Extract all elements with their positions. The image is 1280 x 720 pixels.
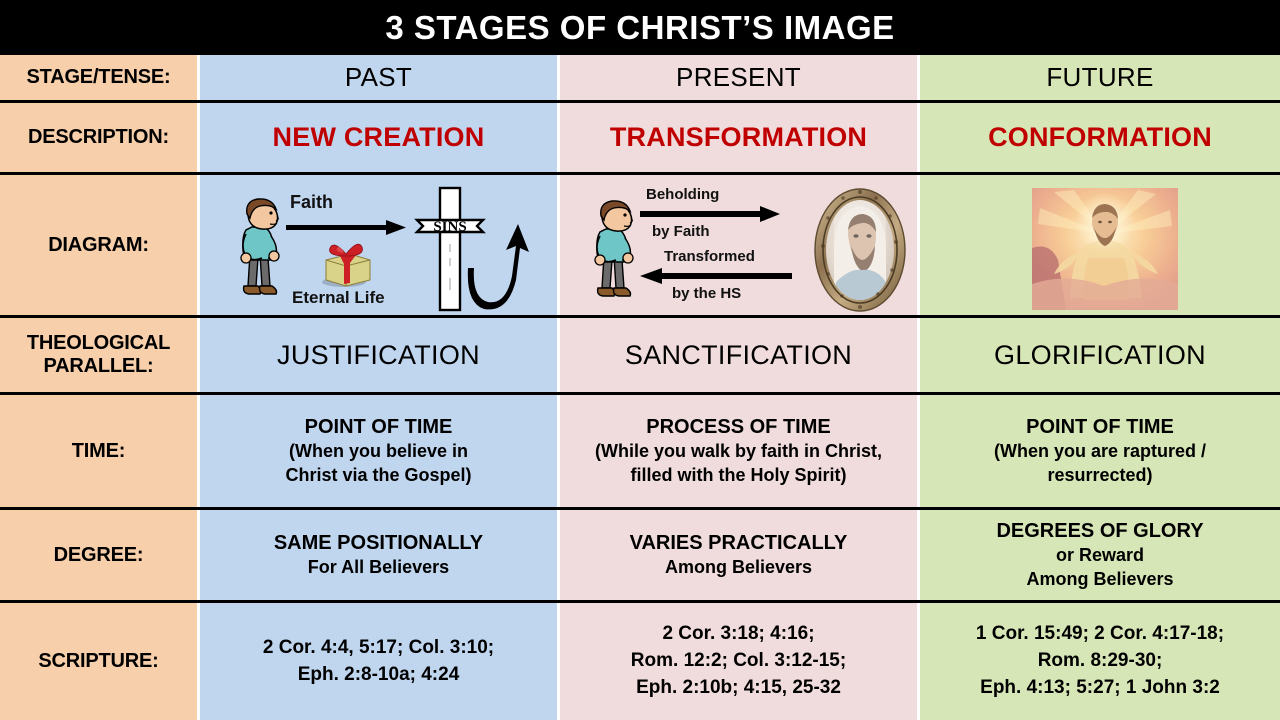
row-label-text: STAGE/TENSE: xyxy=(27,66,171,89)
page-title: 3 STAGES OF CHRIST’S IMAGE xyxy=(385,11,894,44)
row-label-text: DIAGRAM: xyxy=(48,234,149,257)
degree-past-main: SAME POSITIONALLY xyxy=(274,531,483,556)
cell-description-past: NEW CREATION xyxy=(200,103,560,172)
cell-time-future: POINT OF TIME (When you are raptured / r… xyxy=(920,395,1280,507)
diagram-conformation xyxy=(928,178,1272,312)
cell-parallel-future: GLORIFICATION xyxy=(920,318,1280,392)
table-row-description: DESCRIPTION: NEW CREATION TRANSFORMATION… xyxy=(0,103,1280,175)
gift-box-icon xyxy=(316,236,378,288)
christ-in-glory-icon xyxy=(1032,188,1178,310)
row-label-text: SCRIPTURE: xyxy=(38,650,158,673)
time-past-sub1: (When you believe in xyxy=(289,440,468,463)
cell-scripture-present: 2 Cor. 3:18; 4:16; Rom. 12:2; Col. 3:12-… xyxy=(560,603,920,720)
time-future-main: POINT OF TIME xyxy=(1026,415,1174,440)
parallel-future-text: GLORIFICATION xyxy=(994,340,1206,371)
row-label-description: DESCRIPTION: xyxy=(0,103,200,172)
table-row-time: TIME: POINT OF TIME (When you believe in… xyxy=(0,395,1280,510)
degree-present-main: VARIES PRACTICALLY xyxy=(630,531,848,556)
stage-past-text: PAST xyxy=(345,62,412,93)
row-label-time: TIME: xyxy=(0,395,200,507)
cell-stage-future: FUTURE xyxy=(920,55,1280,100)
transformed-label-line2: by the HS xyxy=(672,285,741,302)
cell-scripture-past: 2 Cor. 4:4, 5:17; Col. 3:10; Eph. 2:8-10… xyxy=(200,603,560,720)
description-past-text: NEW CREATION xyxy=(273,122,485,153)
row-label-degree: DEGREE: xyxy=(0,510,200,600)
oval-mirror-christ-icon xyxy=(810,186,910,314)
cartoon-man-icon xyxy=(584,198,640,302)
table-row-degree: DEGREE: SAME POSITIONALLY For All Believ… xyxy=(0,510,1280,603)
cell-stage-present: PRESENT xyxy=(560,55,920,100)
description-present-text: TRANSFORMATION xyxy=(610,122,867,153)
row-label-theological-parallel: THEOLOGICAL PARALLEL: xyxy=(0,318,200,392)
row-label-stage: STAGE/TENSE: xyxy=(0,55,200,100)
table-row-diagram: DIAGRAM: xyxy=(0,175,1280,318)
degree-past-sub1: For All Believers xyxy=(308,556,449,579)
stage-future-text: FUTURE xyxy=(1046,62,1153,93)
faith-arrow-icon xyxy=(286,219,408,237)
row-label-text: DEGREE: xyxy=(54,544,144,567)
row-label-diagram: DIAGRAM: xyxy=(0,175,200,315)
cell-description-future: CONFORMATION xyxy=(920,103,1280,172)
table-row-scripture: SCRIPTURE: 2 Cor. 4:4, 5:17; Col. 3:10; … xyxy=(0,603,1280,720)
stage-present-text: PRESENT xyxy=(676,62,801,93)
faith-arrow-label: Faith xyxy=(290,192,333,213)
diagram-transformation: Beholding by Faith Transformed by the HS xyxy=(568,178,909,312)
transformed-arrow-icon xyxy=(640,268,792,284)
table-row-stage: STAGE/TENSE: PAST PRESENT FUTURE xyxy=(0,55,1280,103)
scripture-past-line2: Eph. 2:8-10a; 4:24 xyxy=(298,662,460,689)
degree-future-sub2: Among Believers xyxy=(1026,568,1173,591)
time-future-sub2: resurrected) xyxy=(1047,464,1152,487)
beholding-label-line2: by Faith xyxy=(652,223,710,240)
cell-parallel-past: JUSTIFICATION xyxy=(200,318,560,392)
row-label-text: TIME: xyxy=(72,440,125,463)
diagram-new-creation: Faith xyxy=(208,178,549,312)
description-future-text: CONFORMATION xyxy=(988,122,1212,153)
scripture-future-line1: 1 Cor. 15:49; 2 Cor. 4:17-18; xyxy=(976,621,1224,648)
time-present-sub1: (While you walk by faith in Christ, xyxy=(595,440,882,463)
cell-scripture-future: 1 Cor. 15:49; 2 Cor. 4:17-18; Rom. 8:29-… xyxy=(920,603,1280,720)
time-future-sub1: (When you are raptured / xyxy=(994,440,1206,463)
degree-future-sub1: or Reward xyxy=(1056,544,1144,567)
beholding-arrow-icon xyxy=(640,206,782,222)
cell-diagram-past: Faith xyxy=(200,175,560,315)
comparison-table: STAGE/TENSE: PAST PRESENT FUTURE DESCRIP… xyxy=(0,55,1280,720)
row-label-text-line1: THEOLOGICAL xyxy=(27,332,170,355)
row-label-text: DESCRIPTION: xyxy=(28,126,169,149)
parallel-past-text: JUSTIFICATION xyxy=(277,340,480,371)
scripture-future-line2: Rom. 8:29-30; xyxy=(1038,648,1163,675)
beholding-label-line1: Beholding xyxy=(646,186,719,203)
transformed-label-line1: Transformed xyxy=(664,248,755,265)
cell-time-past: POINT OF TIME (When you believe in Chris… xyxy=(200,395,560,507)
title-bar: 3 STAGES OF CHRIST’S IMAGE xyxy=(0,0,1280,55)
scripture-present-line3: Eph. 2:10b; 4:15, 25-32 xyxy=(636,675,841,702)
upward-arrow-icon xyxy=(466,210,532,310)
slide-root: 3 STAGES OF CHRIST’S IMAGE STAGE/TENSE: … xyxy=(0,0,1280,720)
time-past-main: POINT OF TIME xyxy=(305,415,453,440)
scripture-present-line1: 2 Cor. 3:18; 4:16; xyxy=(662,621,814,648)
scripture-present-line2: Rom. 12:2; Col. 3:12-15; xyxy=(631,648,846,675)
time-present-main: PROCESS OF TIME xyxy=(646,415,830,440)
parallel-present-text: SANCTIFICATION xyxy=(625,340,852,371)
scripture-past-line1: 2 Cor. 4:4, 5:17; Col. 3:10; xyxy=(263,635,494,662)
time-present-sub2: filled with the Holy Spirit) xyxy=(631,464,847,487)
row-label-scripture: SCRIPTURE: xyxy=(0,603,200,720)
cell-degree-present: VARIES PRACTICALLY Among Believers xyxy=(560,510,920,600)
cell-stage-past: PAST xyxy=(200,55,560,100)
cartoon-man-icon xyxy=(230,196,286,300)
cell-time-present: PROCESS OF TIME (While you walk by faith… xyxy=(560,395,920,507)
cell-degree-past: SAME POSITIONALLY For All Believers xyxy=(200,510,560,600)
eternal-life-label: Eternal Life xyxy=(292,288,385,308)
table-row-theological-parallel: THEOLOGICAL PARALLEL: JUSTIFICATION SANC… xyxy=(0,318,1280,395)
cell-degree-future: DEGREES OF GLORY or Reward Among Believe… xyxy=(920,510,1280,600)
cell-diagram-present: Beholding by Faith Transformed by the HS xyxy=(560,175,920,315)
row-label-text-line2: PARALLEL: xyxy=(43,355,153,378)
time-past-sub2: Christ via the Gospel) xyxy=(285,464,471,487)
cell-diagram-future xyxy=(920,175,1280,315)
degree-present-sub1: Among Believers xyxy=(665,556,812,579)
scripture-future-line3: Eph. 4:13; 5:27; 1 John 3:2 xyxy=(980,675,1220,702)
cross-sins-text: SINS xyxy=(433,219,466,235)
cell-parallel-present: SANCTIFICATION xyxy=(560,318,920,392)
cell-description-present: TRANSFORMATION xyxy=(560,103,920,172)
degree-future-main: DEGREES OF GLORY xyxy=(996,519,1203,544)
